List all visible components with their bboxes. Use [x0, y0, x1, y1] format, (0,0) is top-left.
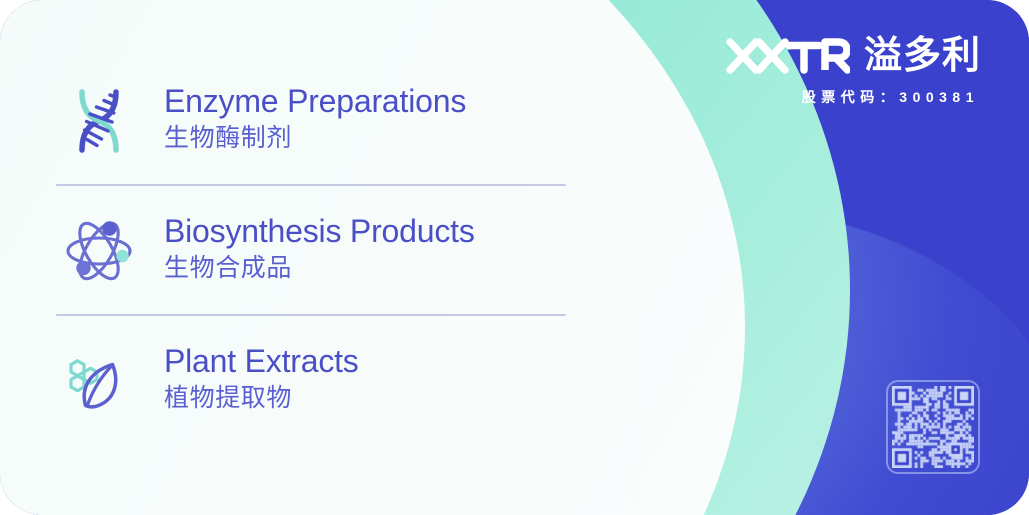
xxtr-logomark-icon	[726, 36, 850, 76]
product-title-cn: 生物酶制剂	[164, 122, 466, 155]
content-layer: Enzyme Preparations 生物酶制剂	[0, 0, 1029, 515]
product-row-plant-extracts[interactable]: Plant Extracts 植物提取物	[56, 316, 576, 446]
product-text-block: Enzyme Preparations 生物酶制剂	[164, 83, 466, 158]
product-title-cn: 生物合成品	[164, 252, 475, 285]
product-text-block: Biosynthesis Products 生物合成品	[164, 213, 475, 288]
dna-helix-icon	[56, 78, 142, 164]
brand-name-cn: 溢多利	[864, 37, 981, 75]
atom-molecule-icon	[56, 208, 142, 294]
qr-code-icon[interactable]	[886, 380, 980, 474]
product-title-en: Biosynthesis Products	[164, 213, 475, 251]
product-title-cn: 植物提取物	[164, 382, 359, 415]
qr-code-canvas	[892, 386, 974, 468]
product-category-list: Enzyme Preparations 生物酶制剂	[56, 56, 576, 446]
product-title-en: Enzyme Preparations	[164, 83, 466, 121]
product-categories-banner: Enzyme Preparations 生物酶制剂	[0, 0, 1029, 515]
leaf-hexagon-icon	[56, 338, 142, 424]
product-row-enzyme-preparations[interactable]: Enzyme Preparations 生物酶制剂	[56, 56, 576, 186]
product-title-en: Plant Extracts	[164, 343, 359, 381]
brand-block: 溢多利 股票代码：300381	[726, 36, 981, 107]
stock-code-label: 股票代码：300381	[726, 87, 981, 107]
product-text-block: Plant Extracts 植物提取物	[164, 343, 359, 418]
product-row-biosynthesis-products[interactable]: Biosynthesis Products 生物合成品	[56, 186, 576, 316]
brand-lockup: 溢多利	[726, 36, 981, 76]
